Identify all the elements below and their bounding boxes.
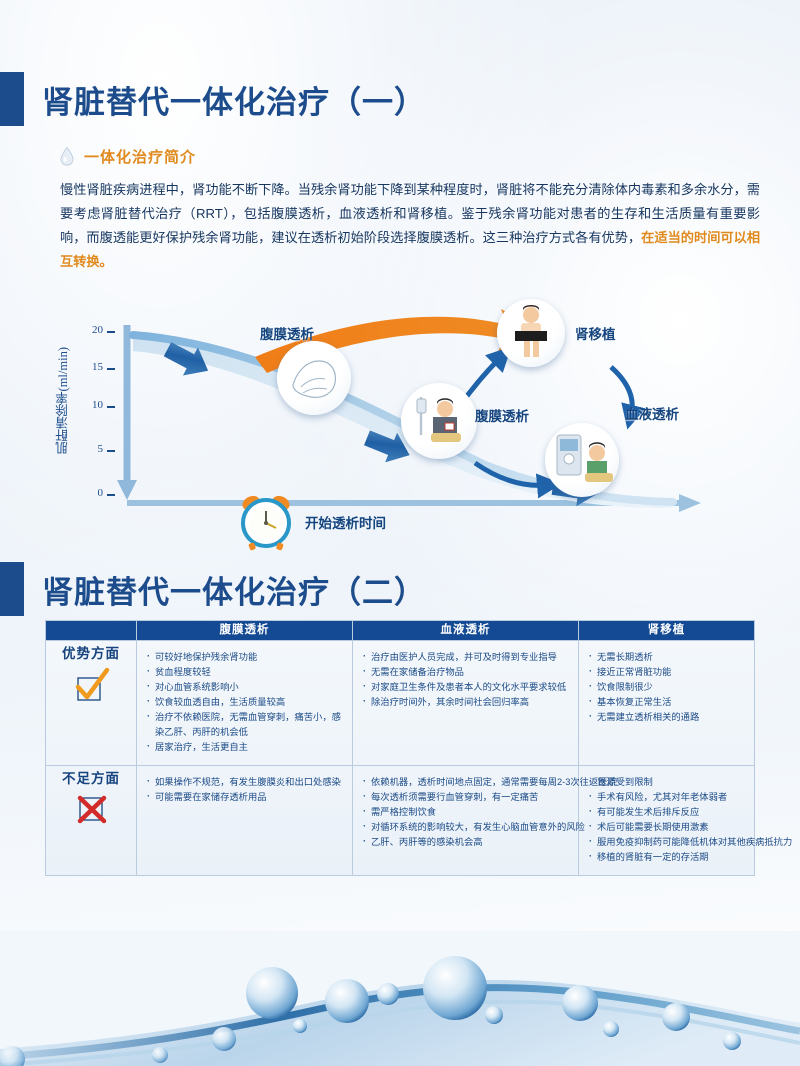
intro-heading: 一体化治疗简介 (60, 146, 196, 167)
list-item: 无需长期透析 (589, 650, 746, 665)
list-item: 基本恢复正常生活 (589, 695, 746, 710)
list-item: 无需在家储备治疗物品 (363, 665, 570, 680)
cell-kt-disadvantages: 肾源受到限制 手术有风险，尤其对年老体弱者 有可能发生术后排斥反应 术后可能需要… (579, 766, 755, 876)
list-item: 贫血程度较轻 (147, 665, 344, 680)
list-item: 乙肝、丙肝等的感染机会高 (363, 835, 570, 850)
header-kidney-transplant: 肾移植 (579, 621, 755, 641)
y-axis-arrow (117, 325, 137, 500)
list-item: 对家庭卫生条件及患者本人的文化水平要求较低 (363, 680, 570, 695)
water-drop-icon (60, 147, 74, 166)
list-item: 除治疗时间外，其余时间社会回归率高 (363, 695, 570, 710)
label-kidney-transplant: 肾移植 (575, 323, 616, 343)
header-hemodialysis: 血液透析 (353, 621, 579, 641)
start-dialysis-clock-icon (233, 487, 299, 553)
page-title-one: 肾脏替代一体化治疗（一） (42, 77, 426, 122)
label-start-dialysis-time: 开始透析时间 (305, 512, 386, 532)
peritoneal-dialysis-patient-icon (401, 383, 477, 459)
header-peritoneal-dialysis: 腹膜透析 (137, 621, 353, 641)
red-cross-icon (71, 793, 111, 825)
treatment-comparison-table: 腹膜透析 血液透析 肾移植 优势方面 可较好地保护残余肾功能 贫血程度较轻 对心… (45, 620, 755, 876)
disadvantages-label: 不足方面 (47, 767, 135, 787)
cell-hd-advantages: 治疗由医护人员完成，并可及时得到专业指导 无需在家储备治疗物品 对家庭卫生条件及… (353, 641, 579, 766)
table-row-advantages: 优势方面 可较好地保护残余肾功能 贫血程度较轻 对心血管系统影响小 饮食较血透自… (46, 641, 755, 766)
advantages-label: 优势方面 (47, 642, 135, 662)
cell-hd-disadvantages: 依赖机器，透析时间地点固定，通常需要每周2-3次往返医院 每次透析须需要行血管穿… (353, 766, 579, 876)
label-peritoneal-dialysis-center: 腹膜透析 (475, 405, 529, 425)
accent-bar-two (0, 562, 24, 616)
list-item: 居家治疗，生活更自主 (147, 740, 344, 755)
list-item: 对循环系统的影响较大，有发生心脑血管意外的风险 (363, 820, 570, 835)
list-item: 接近正常肾脏功能 (589, 665, 746, 680)
list-item: 术后可能需要长期使用激素 (589, 820, 746, 835)
list-item: 依赖机器，透析时间地点固定，通常需要每周2-3次往返医院 (363, 775, 570, 790)
hemodialysis-icon (545, 423, 619, 497)
row-label-advantages: 优势方面 (46, 641, 137, 766)
list-item: 如果操作不规范，有发生腹膜炎和出口处感染 (147, 775, 344, 790)
cell-pd-advantages: 可较好地保护残余肾功能 贫血程度较轻 对心血管系统影响小 饮食较血透自由，生活质… (137, 641, 353, 766)
cell-pd-disadvantages: 如果操作不规范，有发生腹膜炎和出口处感染 可能需要在家储存透析用品 (137, 766, 353, 876)
list-item: 无需建立透析相关的通路 (589, 710, 746, 725)
header-blank (46, 621, 137, 641)
table-header-row: 腹膜透析 血液透析 肾移植 (46, 621, 755, 641)
list-item: 对心血管系统影响小 (147, 680, 344, 695)
list-item: 可能需要在家储存透析用品 (147, 790, 344, 805)
section-header-one: 肾脏替代一体化治疗（一） (0, 72, 426, 126)
peritoneal-dialysis-hand-icon (277, 341, 351, 415)
list-item: 饮食较血透自由，生活质量较高 (147, 695, 344, 710)
residual-kidney-function-chart: 肌酐清除率(ml/min) 20 15 10 5 0 (55, 295, 755, 560)
page-title-two: 肾脏替代一体化治疗（二） (42, 567, 426, 612)
list-item: 可较好地保护残余肾功能 (147, 650, 344, 665)
list-item: 治疗由医护人员完成，并可及时得到专业指导 (363, 650, 570, 665)
list-item: 饮食限制很少 (589, 680, 746, 695)
list-item: 有可能发生术后排斥反应 (589, 805, 746, 820)
label-hemodialysis: 血液透析 (625, 403, 679, 423)
water-bubbles-graphic (0, 931, 800, 1066)
list-item: 肾源受到限制 (589, 775, 746, 790)
orange-check-icon (71, 668, 111, 702)
list-item: 移植的肾脏有一定的存活期 (589, 850, 746, 865)
list-item: 服用免疫抑制药可能降低机体对其他疾病抵抗力 (589, 835, 746, 850)
kidney-transplant-icon (497, 299, 565, 367)
row-label-disadvantages: 不足方面 (46, 766, 137, 876)
section-header-two: 肾脏替代一体化治疗（二） (0, 562, 426, 616)
intro-title: 一体化治疗简介 (84, 146, 196, 167)
table-row-disadvantages: 不足方面 如果操作不规范，有发生腹膜炎和出口处感染 可能需要在家储存透析用品 依… (46, 766, 755, 876)
intro-paragraph: 慢性肾脏疾病进程中，肾功能不断下降。当残余肾功能下降到某种程度时，肾脏将不能充分… (60, 178, 760, 274)
accent-bar (0, 72, 24, 126)
cell-kt-advantages: 无需长期透析 接近正常肾脏功能 饮食限制很少 基本恢复正常生活 无需建立透析相关… (579, 641, 755, 766)
list-item: 手术有风险，尤其对年老体弱者 (589, 790, 746, 805)
list-item: 每次透析须需要行血管穿刺，有一定痛苦 (363, 790, 570, 805)
list-item: 需严格控制饮食 (363, 805, 570, 820)
list-item: 治疗不依赖医院，无需血管穿刺，痛苦小，感染乙肝、丙肝的机会低 (147, 710, 344, 740)
label-peritoneal-dialysis-left: 腹膜透析 (260, 323, 314, 343)
